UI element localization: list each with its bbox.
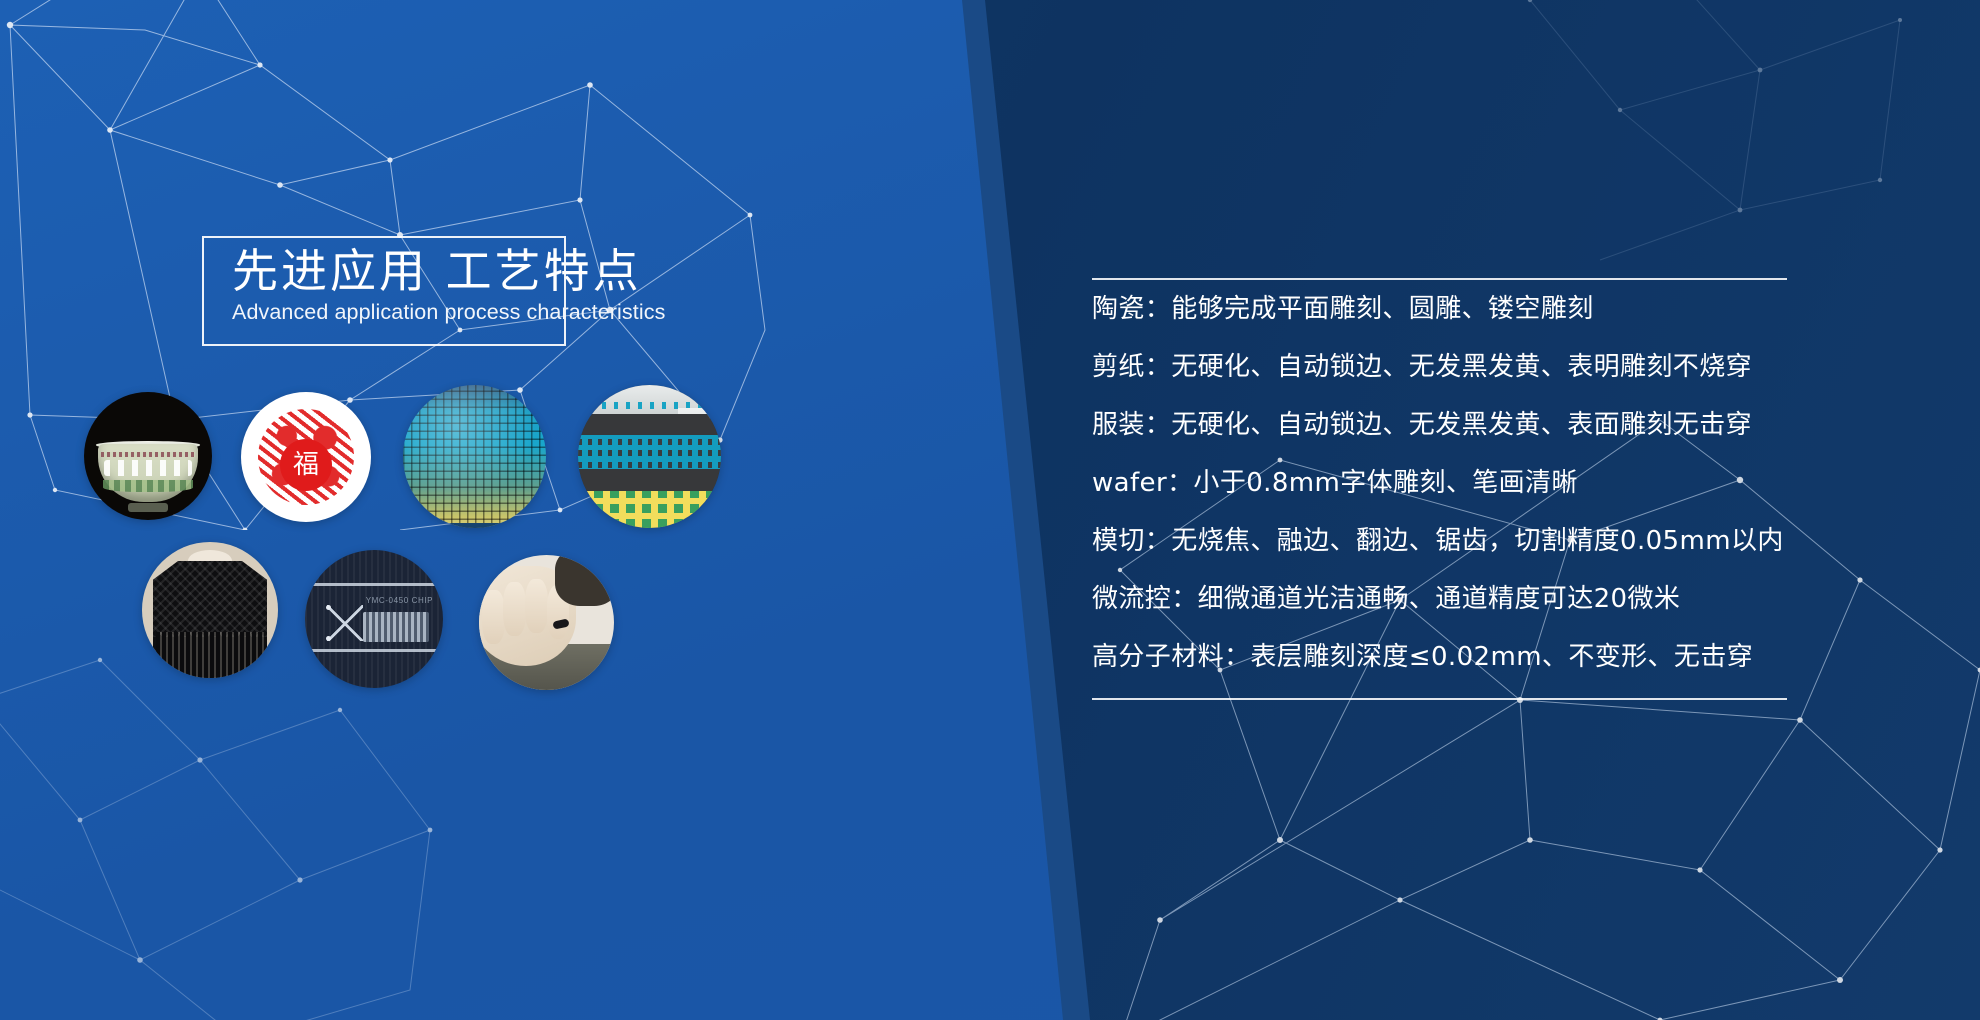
feature-item-microfluidic: 微流控：细微通道光洁通畅、通道精度可达20微米: [1092, 586, 1882, 612]
feature-item-wafer: wafer：小于0.8mm字体雕刻、笔画清晰: [1092, 470, 1882, 496]
page-title: 先进应用 工艺特点: [232, 248, 642, 294]
bowl-engraved-glyphs: [104, 460, 191, 477]
hand-holding-part-image: [479, 555, 614, 690]
gallery-item-silicon-wafer[interactable]: [403, 385, 546, 528]
chip-node-a: [326, 605, 331, 610]
feature-item-apparel: 服装：无硬化、自动锁边、无发黑发黄、表面雕刻无击穿: [1092, 412, 1882, 438]
feature-list: 陶瓷：能够完成平面雕刻、圆雕、镂空雕刻 剪纸：无硬化、自动锁边、无发黑发黄、表明…: [1092, 278, 1882, 700]
chip-rail-top: [305, 583, 443, 586]
chip-node-b: [326, 636, 331, 641]
hand-sleeve: [555, 555, 614, 606]
hand-finger-3: [525, 579, 548, 633]
page-subtitle: Advanced application process characteris…: [232, 300, 665, 326]
silicon-wafer-image: [403, 385, 546, 528]
film-band-yellow: [578, 491, 721, 528]
papercut-fu-glyph: 福: [280, 439, 332, 491]
wafer-flat-edge: [443, 523, 506, 528]
chip-label: YMC-0450 CHIP: [366, 596, 433, 605]
film-teal-dot-row-1: [578, 439, 721, 445]
film-teal-dot-row-3: [578, 462, 721, 468]
feature-item-papercut: 剪纸：无硬化、自动锁边、无发黑发黄、表明雕刻不烧穿: [1092, 354, 1882, 380]
hand-finger-1: [482, 590, 505, 644]
bowl-bottom-band: [103, 480, 193, 492]
chip-rail-bottom: [305, 649, 443, 652]
film-yellow-pattern: [578, 491, 721, 528]
feature-list-bottom-rule: [1092, 698, 1787, 700]
film-band-dark-upper: [578, 414, 721, 435]
gallery-item-hand-part[interactable]: [479, 555, 614, 690]
feature-list-items: 陶瓷：能够完成平面雕刻、圆雕、镂空雕刻 剪纸：无硬化、自动锁边、无发黑发黄、表明…: [1092, 280, 1882, 698]
chip-y-junction: [327, 605, 363, 641]
gallery-item-black-garment[interactable]: [142, 542, 278, 678]
slide-canvas: 先进应用 工艺特点 Advanced application process c…: [0, 0, 1980, 1020]
bowl-foot: [128, 503, 169, 512]
hand-finger-2: [503, 582, 526, 636]
film-teal-dot-row-2: [578, 450, 721, 456]
bowl-top-band: [101, 452, 196, 457]
microfluidic-chip-image: YMC-0450 CHIP: [305, 550, 443, 688]
garment-laser-weave: [153, 561, 267, 637]
black-garment-image: [142, 542, 278, 678]
gallery-item-microfluidic-chip[interactable]: YMC-0450 CHIP: [305, 550, 443, 688]
red-papercut-image: 福: [241, 392, 371, 522]
feature-item-diecut: 模切：无烧焦、融边、翻边、锯齿，切割精度0.05mm以内: [1092, 528, 1882, 554]
ceramic-bowl-image: [84, 392, 212, 520]
wafer-sheen: [403, 385, 546, 528]
garment-fringe: [156, 632, 265, 678]
chip-serpentine-channel: [363, 612, 429, 642]
feature-item-polymer: 高分子材料：表层雕刻深度≤0.02mm、不变形、无击穿: [1092, 644, 1882, 670]
gallery-item-film-strata[interactable]: [578, 385, 721, 528]
gallery-item-ceramic-bowl[interactable]: [84, 392, 212, 520]
film-band-dark-lower: [578, 469, 721, 490]
gallery-item-red-papercut[interactable]: 福: [241, 392, 371, 522]
feature-item-ceramic: 陶瓷：能够完成平面雕刻、圆雕、镂空雕刻: [1092, 296, 1882, 322]
film-band-teal: [578, 435, 721, 469]
layered-film-image: [578, 385, 721, 528]
